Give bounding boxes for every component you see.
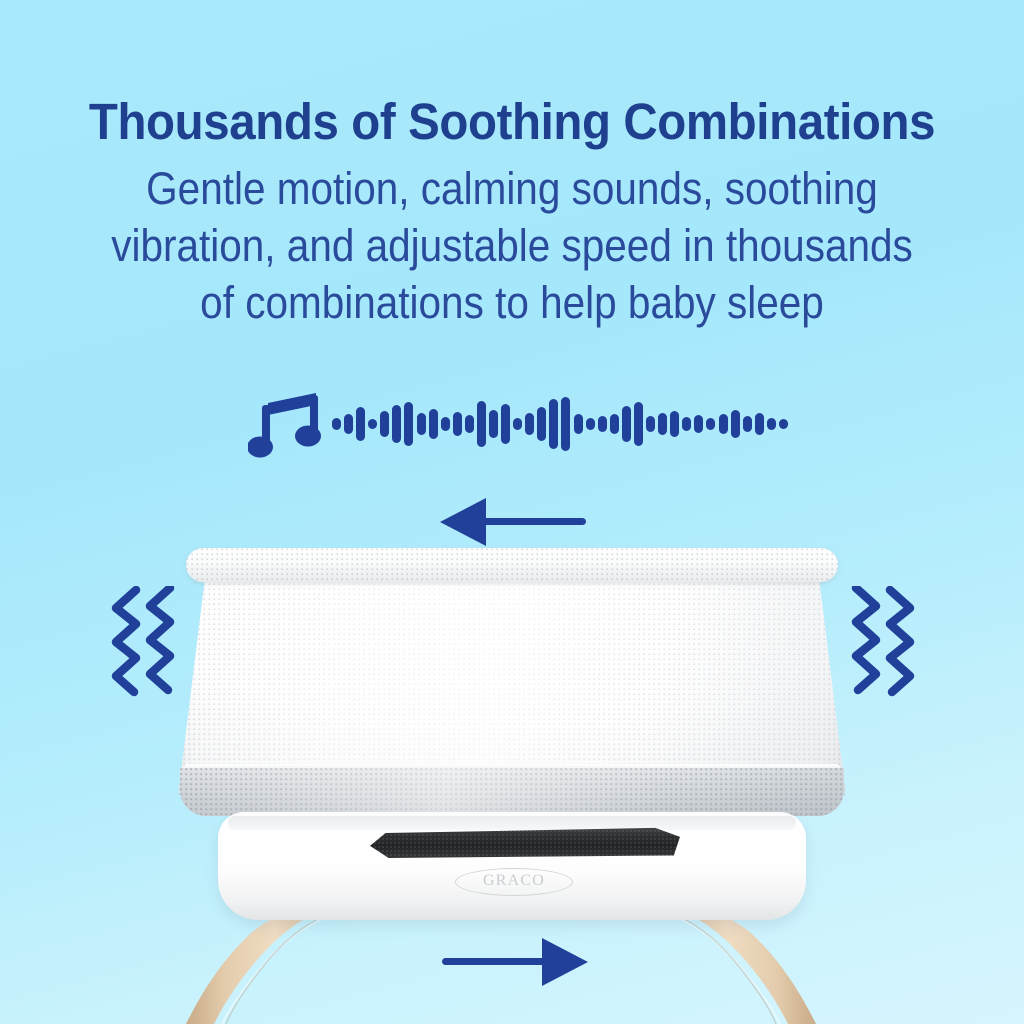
product-bassinet: GRACO (0, 0, 1024, 1024)
promo-image: Thousands of Soothing Combinations Gentl… (0, 0, 1024, 1024)
motion-base (218, 812, 806, 920)
band-sheen (180, 768, 844, 816)
mesh-basket (178, 548, 846, 796)
base-top-lip (228, 816, 796, 830)
basket-top-rim (186, 548, 838, 582)
graco-brand-logo: GRACO (455, 868, 573, 896)
basket-sheen (178, 548, 846, 796)
rim-mesh-texture (186, 548, 838, 582)
basket-lower-mesh-band (180, 768, 844, 816)
